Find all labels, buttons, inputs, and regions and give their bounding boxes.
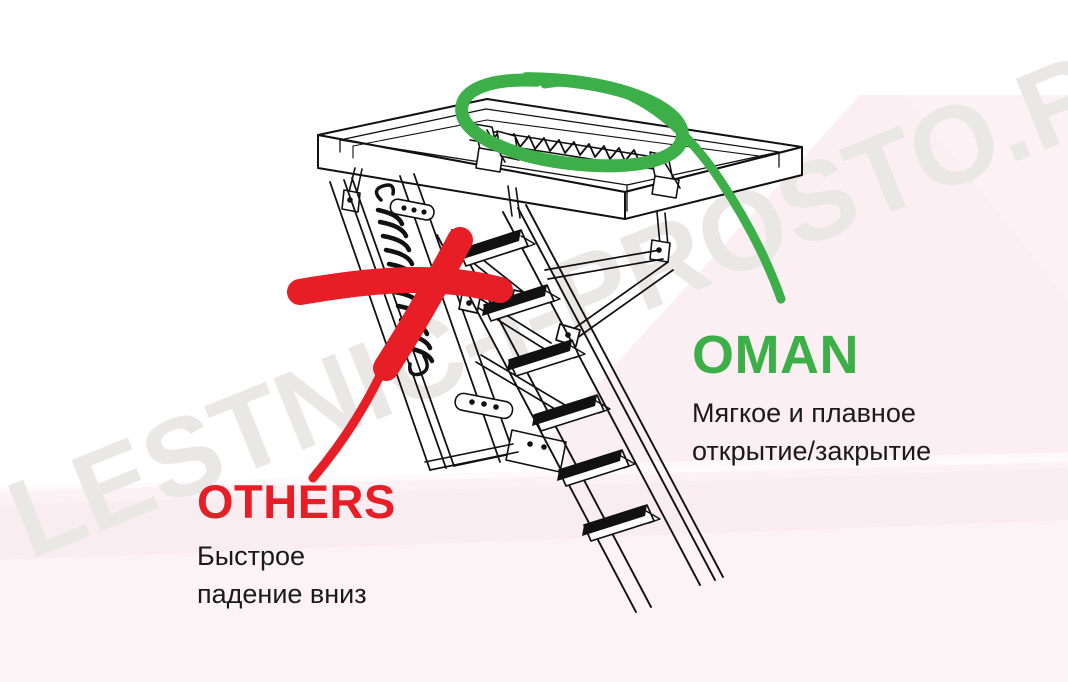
others-title: OTHERS [197,478,537,525]
callout-oman: OMAN Мягкое и плавное открытие/закрытие [692,328,1022,471]
red-arrow-pointer [313,350,392,478]
red-cross-mark [300,240,500,368]
green-curve-pointer [545,82,781,299]
oman-subtitle-line-2: открытие/закрытие [692,432,1022,470]
oman-subtitle: Мягкое и плавное открытие/закрытие [692,394,1022,471]
others-subtitle-line-2: падение вниз [197,575,537,613]
callout-others: OTHERS Быстрое падение вниз [197,478,537,614]
infographic-canvas: LESTNIC-I-PROSTO.RU [0,0,1068,682]
oman-title: OMAN [692,328,1022,382]
oman-subtitle-line-1: Мягкое и плавное [692,394,1022,432]
others-subtitle-line-1: Быстрое [197,537,537,575]
others-subtitle: Быстрое падение вниз [197,537,537,614]
